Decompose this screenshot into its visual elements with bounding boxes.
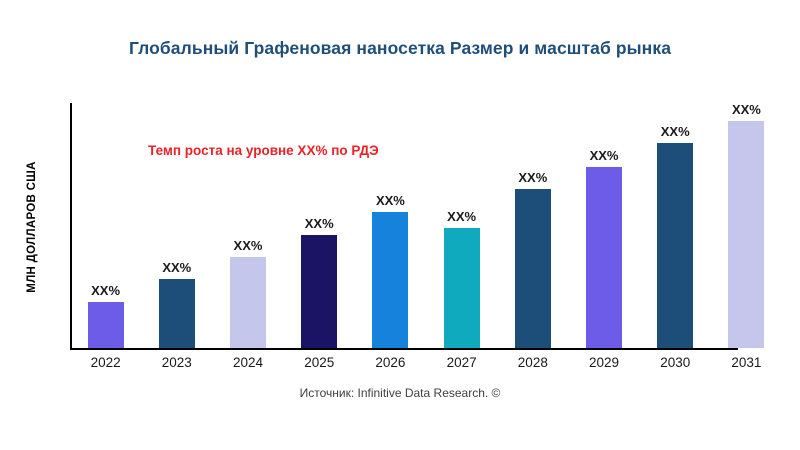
bar-2031[interactable] — [728, 121, 764, 348]
bar-2023[interactable] — [159, 279, 195, 348]
x-tick-2022: 2022 — [70, 355, 141, 377]
bar-slot: XX% — [497, 103, 568, 348]
source-note: Источник: Infinitive Data Research. © — [0, 386, 800, 400]
bar-value-label: XX% — [426, 209, 497, 224]
y-axis-label-container: МЛН ДОЛЛАРОВ США — [20, 103, 44, 350]
bar-slot: XX% — [640, 103, 711, 348]
bar-slot: XX% — [355, 103, 426, 348]
bar-value-label: XX% — [355, 193, 426, 208]
x-tick-2031: 2031 — [711, 355, 782, 377]
x-tick-2023: 2023 — [141, 355, 212, 377]
chart-container: Глобальный Графеновая наносетка Размер и… — [0, 0, 800, 450]
bar-slot: XX% — [711, 103, 782, 348]
x-axis-tick-labels: 2022202320242025202620272028202920302031 — [70, 355, 782, 377]
bar-2024[interactable] — [230, 257, 266, 348]
bar-slot: XX% — [70, 103, 141, 348]
bar-2028[interactable] — [515, 189, 551, 349]
bar-value-label: XX% — [497, 170, 568, 185]
bar-value-label: XX% — [212, 238, 283, 253]
bar-2025[interactable] — [301, 235, 337, 348]
bar-value-label: XX% — [568, 148, 639, 163]
chart-title: Глобальный Графеновая наносетка Размер и… — [0, 38, 800, 59]
bar-slot: XX% — [284, 103, 355, 348]
bar-slot: XX% — [568, 103, 639, 348]
bar-group: XX%XX%XX%XX%XX%XX%XX%XX%XX%XX% — [70, 103, 782, 348]
bar-slot: XX% — [141, 103, 212, 348]
x-tick-2024: 2024 — [212, 355, 283, 377]
y-axis-label: МЛН ДОЛЛАРОВ США — [26, 161, 38, 292]
bar-value-label: XX% — [640, 124, 711, 139]
bar-slot: XX% — [212, 103, 283, 348]
x-tick-2029: 2029 — [568, 355, 639, 377]
bar-value-label: XX% — [141, 260, 212, 275]
bar-2026[interactable] — [372, 212, 408, 349]
plot-area: Темп роста на уровне XX% по РДЭ XX%XX%XX… — [70, 103, 782, 350]
x-tick-2025: 2025 — [284, 355, 355, 377]
bar-2029[interactable] — [586, 167, 622, 349]
bar-2027[interactable] — [444, 228, 480, 348]
x-tick-2027: 2027 — [426, 355, 497, 377]
x-tick-2028: 2028 — [497, 355, 568, 377]
x-axis-line — [70, 348, 738, 350]
bar-value-label: XX% — [284, 216, 355, 231]
bar-slot: XX% — [426, 103, 497, 348]
bar-2022[interactable] — [88, 302, 124, 349]
bar-value-label: XX% — [70, 283, 141, 298]
x-tick-2030: 2030 — [640, 355, 711, 377]
bar-2030[interactable] — [657, 143, 693, 348]
bar-value-label: XX% — [711, 102, 782, 117]
x-tick-2026: 2026 — [355, 355, 426, 377]
